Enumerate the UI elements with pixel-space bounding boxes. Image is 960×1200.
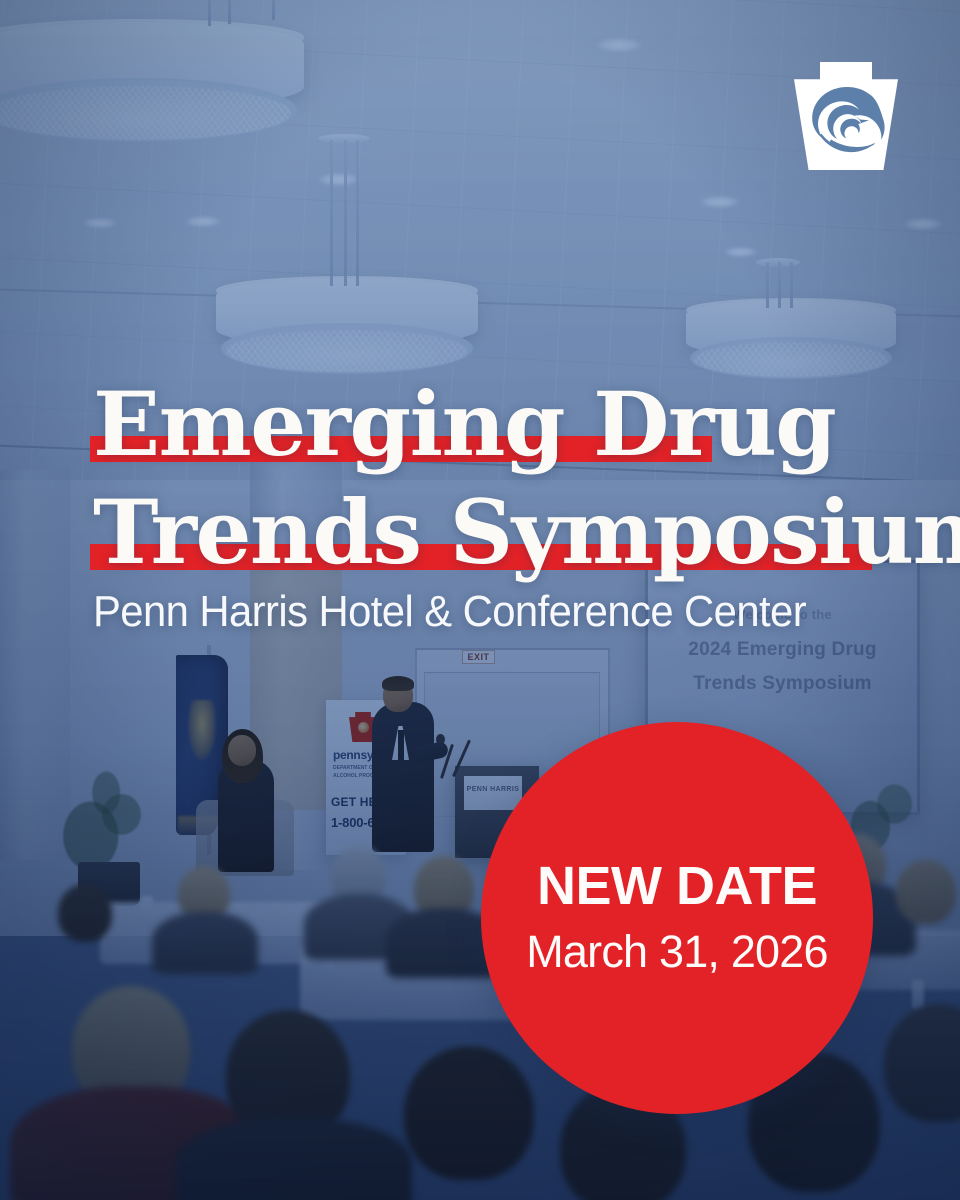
venue-subtitle: Penn Harris Hotel & Conference Center: [93, 584, 806, 640]
badge-date: March 31, 2026: [526, 924, 828, 980]
eagle-swirl-icon: [806, 84, 885, 160]
headline-line-1: Emerging Drug: [93, 368, 893, 476]
event-promo-poster: Welcome to the 2024 Emerging Drug Trends…: [0, 0, 960, 1200]
keystone-shape-icon: [794, 62, 898, 170]
headline-text-line-2: Trends Symposium: [93, 480, 960, 584]
headline-line-2: Trends Symposium: [93, 476, 893, 584]
headline-text-line-1: Emerging Drug: [93, 372, 835, 476]
pennsylvania-keystone-logo: [794, 62, 898, 170]
badge-title: NEW DATE: [537, 856, 817, 916]
new-date-badge: NEW DATE March 31, 2026: [481, 722, 873, 1114]
headline-block: Emerging Drug Trends Symposium: [93, 368, 893, 584]
